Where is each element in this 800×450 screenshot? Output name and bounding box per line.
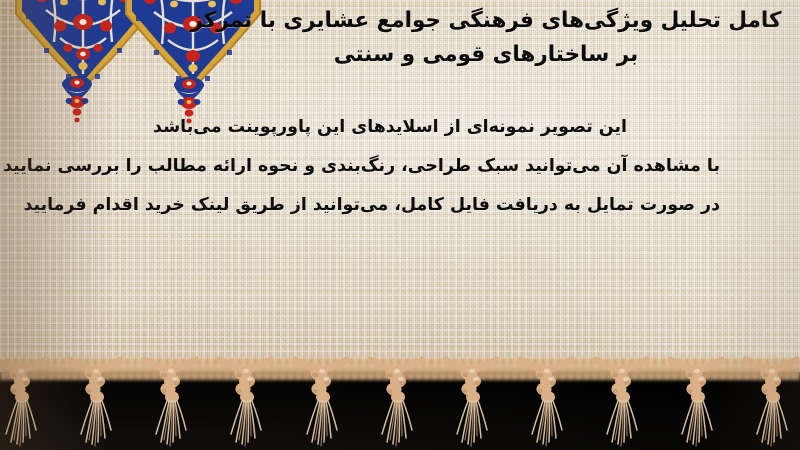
tassel: [518, 356, 574, 450]
slide-body: این تصویر نمونه‌ای از اسلایدهای این پاور…: [60, 108, 720, 225]
tassel: [0, 356, 48, 450]
tassel: [293, 356, 349, 450]
tassel: [668, 356, 724, 450]
slide-title: کامل تحلیل ویژگی‌های فرهنگی جوامع عشایری…: [188, 4, 784, 72]
tassel: [142, 356, 198, 450]
tassel: [593, 356, 649, 450]
tassel: [217, 356, 273, 450]
knotted-tassel-fringe: [0, 356, 800, 450]
body-line-1: این تصویر نمونه‌ای از اسلایدهای این پاور…: [60, 108, 720, 147]
tassel: [743, 356, 799, 450]
tassel: [368, 356, 424, 450]
body-line-3: در صورت تمایل به دریافت فایل کامل، می‌تو…: [60, 186, 720, 225]
tassel: [443, 356, 499, 450]
tassel: [67, 356, 123, 450]
slide-canvas: کامل تحلیل ویژگی‌های فرهنگی جوامع عشایری…: [0, 0, 800, 450]
body-line-2: با مشاهده آن می‌توانید سبک طراحی، رنگ‌بن…: [60, 147, 720, 186]
text-container: کامل تحلیل ویژگی‌های فرهنگی جوامع عشایری…: [0, 0, 800, 380]
title-line-2: ساختارهای قومی و سنتی: [334, 42, 610, 67]
